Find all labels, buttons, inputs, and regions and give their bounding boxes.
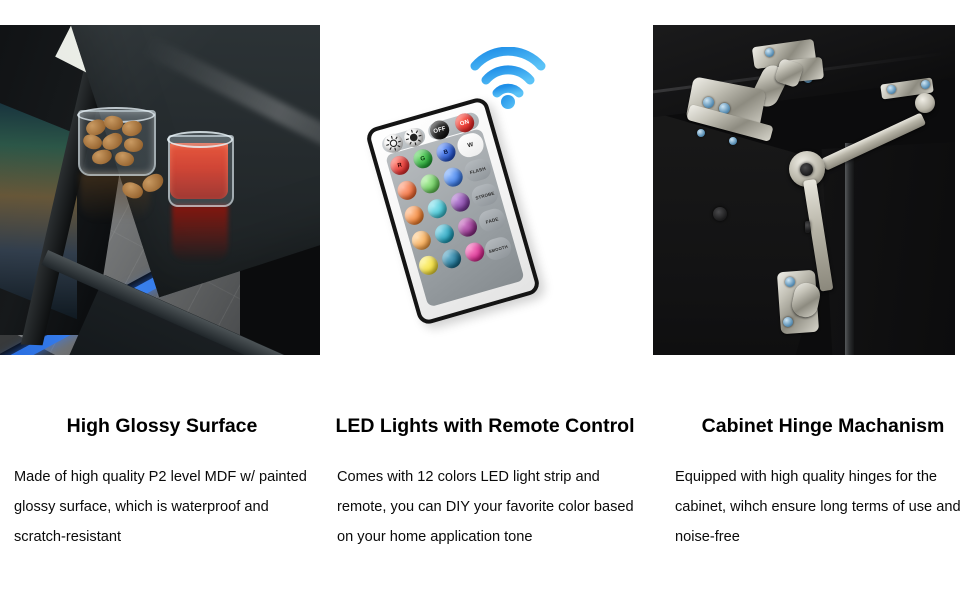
- feature-description: Made of high quality P2 level MDF w/ pai…: [14, 462, 314, 552]
- feature-image-led-lights-remote: OFF ON R G B W F: [330, 25, 650, 355]
- hinge-screw: [729, 137, 737, 145]
- color-button-purple[interactable]: [449, 190, 473, 214]
- feature-heading: Cabinet Hinge Machanism: [660, 412, 970, 440]
- hinge-screw: [765, 48, 774, 57]
- almond: [121, 120, 143, 138]
- cabinet-door: [822, 141, 955, 355]
- drink-glass: [168, 135, 234, 207]
- function-button-strobe[interactable]: STROBE: [469, 181, 500, 208]
- feature-description: Comes with 12 colors LED light strip and…: [337, 462, 637, 552]
- cabinet-door-edge: [845, 143, 854, 355]
- hinge-screw: [697, 129, 705, 137]
- almond: [113, 150, 135, 169]
- almond: [91, 148, 113, 166]
- feature-heading: High Glossy Surface: [0, 412, 320, 440]
- color-button-pink[interactable]: [463, 240, 487, 264]
- color-button-blue-2[interactable]: [441, 165, 465, 189]
- lid-stay-screw: [921, 80, 930, 89]
- color-button-steel-blue[interactable]: [440, 247, 464, 271]
- color-button-blue[interactable]: B: [434, 140, 458, 164]
- feature-image-high-glossy-surface: [0, 25, 320, 355]
- feature-image-cabinet-hinge: [653, 25, 955, 355]
- drink-glass-reflection: [172, 205, 228, 261]
- rgb-remote-control[interactable]: OFF ON R G B W F: [364, 96, 541, 327]
- color-button-yellow[interactable]: [417, 254, 441, 278]
- color-button-amber[interactable]: [410, 229, 434, 253]
- color-button-orange-2[interactable]: [402, 204, 426, 228]
- almond: [123, 137, 143, 153]
- lid-stay-screw: [783, 317, 793, 327]
- color-button-light-green[interactable]: [418, 172, 442, 196]
- color-button-orange-1[interactable]: [395, 179, 419, 203]
- cabinet-cam-dowel: [713, 207, 727, 221]
- arm-slot: [805, 221, 810, 233]
- remote-keypad: R G B W FLASH STROBE: [385, 128, 525, 307]
- lid-stay-pivot: [915, 93, 935, 113]
- feature-column-cabinet-hinge: Cabinet Hinge Machanism Equipped with hi…: [660, 400, 970, 552]
- feature-column-high-glossy-surface: High Glossy Surface Made of high quality…: [0, 400, 320, 552]
- lid-stay-screw: [887, 85, 896, 94]
- color-button-green[interactable]: G: [411, 147, 435, 171]
- function-button-smooth[interactable]: SMOOTH: [483, 235, 514, 262]
- color-button-teal[interactable]: [433, 222, 457, 246]
- feature-column-led-lights-remote: LED Lights with Remote Control Comes wit…: [325, 400, 645, 552]
- feature-description: Equipped with high quality hinges for th…: [675, 462, 970, 552]
- hinge-screw: [703, 97, 714, 108]
- color-button-red[interactable]: R: [388, 154, 412, 178]
- color-button-magenta-dark[interactable]: [456, 215, 480, 239]
- function-button-flash[interactable]: FLASH: [462, 156, 493, 183]
- lid-stay-screw: [785, 277, 795, 287]
- color-button-white[interactable]: W: [455, 130, 486, 159]
- damper-hub: [800, 163, 813, 176]
- almond-glass: [78, 110, 156, 176]
- color-button-cyan[interactable]: [426, 197, 450, 221]
- feature-heading: LED Lights with Remote Control: [325, 412, 645, 440]
- function-button-fade[interactable]: FADE: [477, 206, 508, 233]
